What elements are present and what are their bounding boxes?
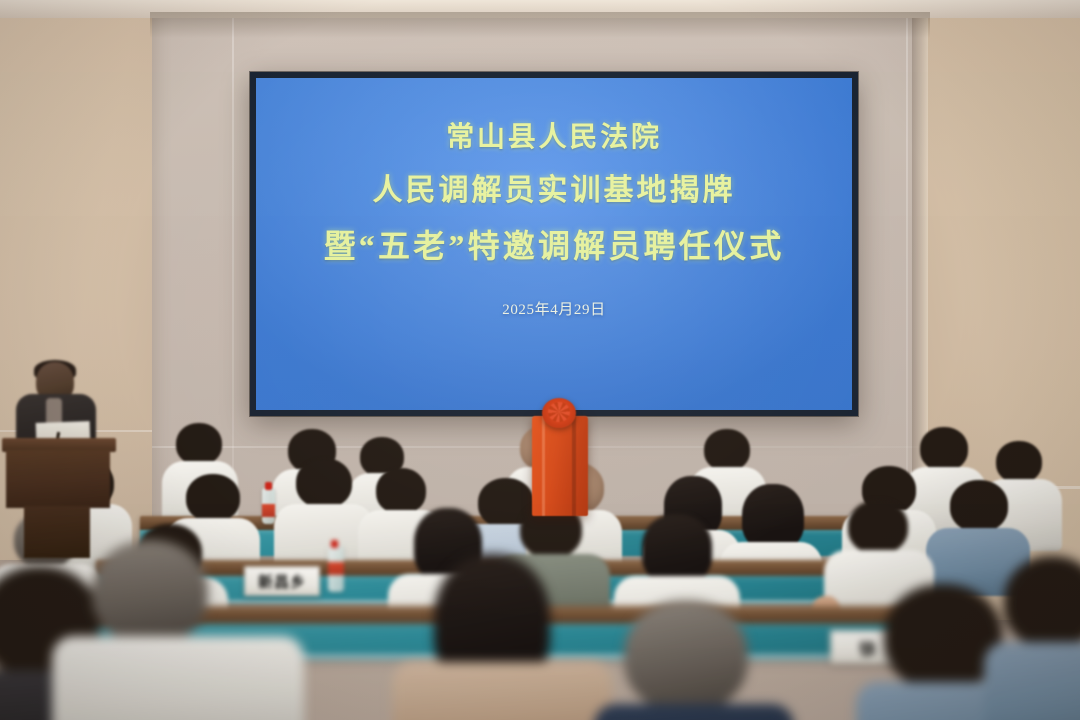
slide-title-line-1: 常山县人民法院 — [446, 124, 662, 152]
ceremony-photograph: 常山县人民法院 人民调解员实训基地揭牌 暨“五老”特邀调解员聘任仪式 2025年… — [0, 0, 1080, 720]
plaque-red-drape — [532, 416, 588, 516]
head — [1004, 556, 1080, 648]
ceiling-shadow — [150, 12, 930, 38]
slide-content: 常山县人民法院 人民调解员实训基地揭牌 暨“五老”特邀调解员聘任仪式 2025年… — [256, 78, 852, 410]
plaque-rosette-flower-icon — [542, 398, 576, 428]
podium-front — [6, 450, 110, 508]
slide-title-line-2: 人民调解员实训基地揭牌 — [373, 176, 736, 206]
unveiling-plaque-draped — [528, 398, 590, 516]
head — [624, 600, 748, 712]
podium-with-speaker — [0, 360, 120, 540]
torso — [984, 642, 1080, 720]
slide-title-line-3: 暨“五老”特邀调解员聘任仪式 — [324, 230, 785, 262]
head — [92, 540, 208, 644]
torso — [392, 662, 612, 720]
projection-screen-bezel: 常山县人民法院 人民调解员实训基地揭牌 暨“五老”特邀调解员聘任仪式 2025年… — [250, 72, 858, 416]
slide-date: 2025年4月29日 — [502, 298, 606, 319]
projection-screen: 常山县人民法院 人民调解员实训基地揭牌 暨“五老”特邀调解员聘任仪式 2025年… — [256, 78, 852, 410]
foreground-audience — [0, 530, 1080, 720]
torso — [52, 636, 304, 720]
torso — [594, 704, 794, 720]
